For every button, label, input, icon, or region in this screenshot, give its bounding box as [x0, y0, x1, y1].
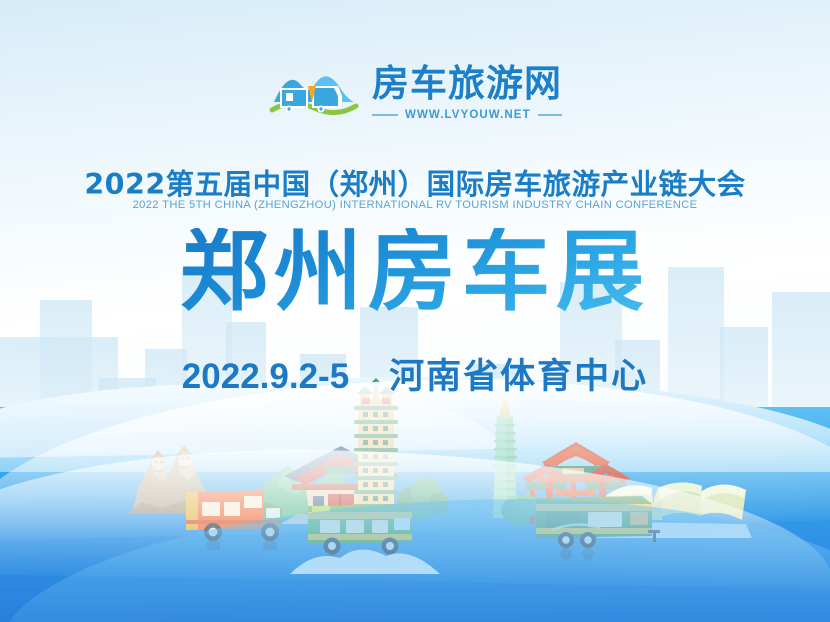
brand-name-cn: 房车旅游网 — [372, 65, 562, 102]
rv-mountain-logo-icon — [268, 62, 360, 124]
conference-title-cn: 2022第五届中国（郑州）国际房车旅游产业链大会 — [0, 162, 830, 203]
event-banner: 房车旅游网 WWW.LVYOUW.NET 2022第五届中国（郑州）国际房车旅游… — [0, 0, 830, 622]
divider-dash-right — [538, 114, 562, 116]
logo-wordmark: 房车旅游网 WWW.LVYOUW.NET — [372, 65, 562, 121]
hero-title-cn: 郑州房车展 — [0, 228, 830, 316]
event-date: 2022.9.2-5 — [182, 357, 349, 397]
event-venue: 河南省体育中心 — [389, 348, 648, 399]
conference-title-en: 2022 THE 5TH CHINA (ZHENGZHOU) INTERNATI… — [0, 199, 830, 211]
site-logo[interactable]: 房车旅游网 WWW.LVYOUW.NET — [0, 62, 830, 124]
event-meta: 2022.9.2-5 河南省体育中心 — [0, 348, 830, 399]
brand-url-row: WWW.LVYOUW.NET — [372, 109, 562, 121]
brand-url: WWW.LVYOUW.NET — [405, 109, 531, 121]
divider-dash-left — [372, 114, 398, 116]
